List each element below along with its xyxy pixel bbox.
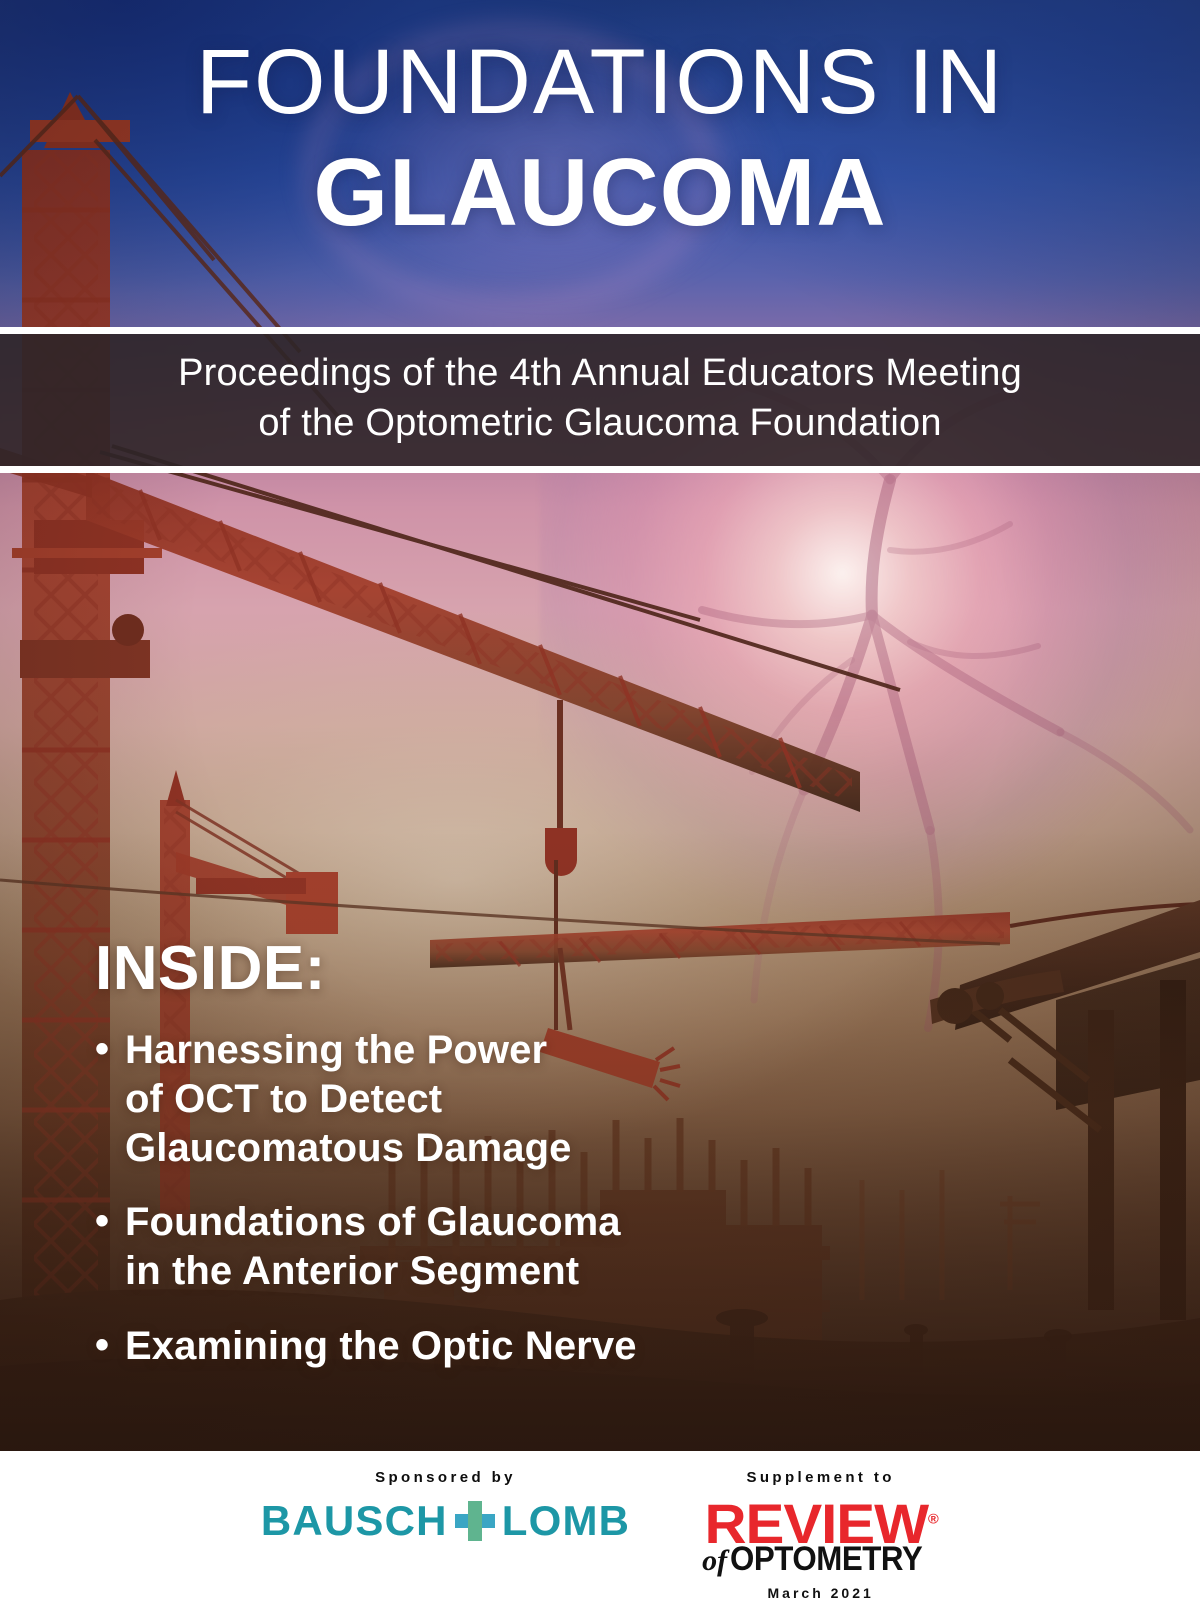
bullet-icon: •: [95, 1028, 109, 1071]
banner-rule-bottom: [0, 466, 1200, 473]
registered-trademark-icon: ®: [928, 1510, 938, 1526]
subtitle-banner: Proceedings of the 4th Annual Educators …: [0, 327, 1200, 473]
banner-rule-top: [0, 327, 1200, 334]
review-of-optometry-logo: REVIEW® of OPTOMETRY March 2021: [702, 1500, 939, 1601]
banner-body: Proceedings of the 4th Annual Educators …: [0, 334, 1200, 466]
sponsored-by-label: Sponsored by: [375, 1469, 516, 1486]
inside-list-item-text: Harnessing the Power of OCT to Detect Gl…: [125, 1026, 571, 1172]
magazine-cover: FOUNDATIONS IN GLAUCOMA Proceedings of t…: [0, 0, 1200, 1613]
inside-contents-block: INSIDE: •Harnessing the Power of OCT to …: [95, 938, 735, 1371]
bullet-icon: •: [95, 1324, 109, 1367]
inside-list-item-text: Examining the Optic Nerve: [125, 1322, 637, 1371]
banner-line-1: Proceedings of the 4th Annual Educators …: [40, 348, 1160, 398]
issue-date: March 2021: [768, 1585, 874, 1601]
publication-block: Supplement to REVIEW® of OPTOMETRY March…: [702, 1469, 939, 1601]
inside-list-item: •Harnessing the Power of OCT to Detect G…: [95, 1026, 735, 1172]
cover-footer: Sponsored by BAUSCH LOMB Supplement to R…: [0, 1451, 1200, 1613]
sponsor-block: Sponsored by BAUSCH LOMB: [261, 1469, 630, 1542]
inside-list-item-text: Foundations of Glaucoma in the Anterior …: [125, 1198, 621, 1296]
bausch-lomb-logo: BAUSCH LOMB: [261, 1500, 630, 1542]
bausch-lomb-word-2: LOMB: [502, 1500, 630, 1542]
inside-list-item: •Examining the Optic Nerve: [95, 1322, 735, 1371]
plus-cross-icon: [455, 1501, 495, 1541]
inside-heading: INSIDE:: [95, 938, 735, 1000]
banner-line-2: of the Optometric Glaucoma Foundation: [40, 398, 1160, 448]
optometry-row: of OPTOMETRY: [702, 1544, 939, 1575]
inside-item-list: •Harnessing the Power of OCT to Detect G…: [95, 1026, 735, 1371]
optometry-wordmark: OPTOMETRY: [730, 1544, 922, 1575]
bullet-icon: •: [95, 1200, 109, 1243]
supplement-to-label: Supplement to: [746, 1469, 894, 1486]
bausch-lomb-word-1: BAUSCH: [261, 1500, 448, 1542]
inside-list-item: •Foundations of Glaucoma in the Anterior…: [95, 1198, 735, 1296]
